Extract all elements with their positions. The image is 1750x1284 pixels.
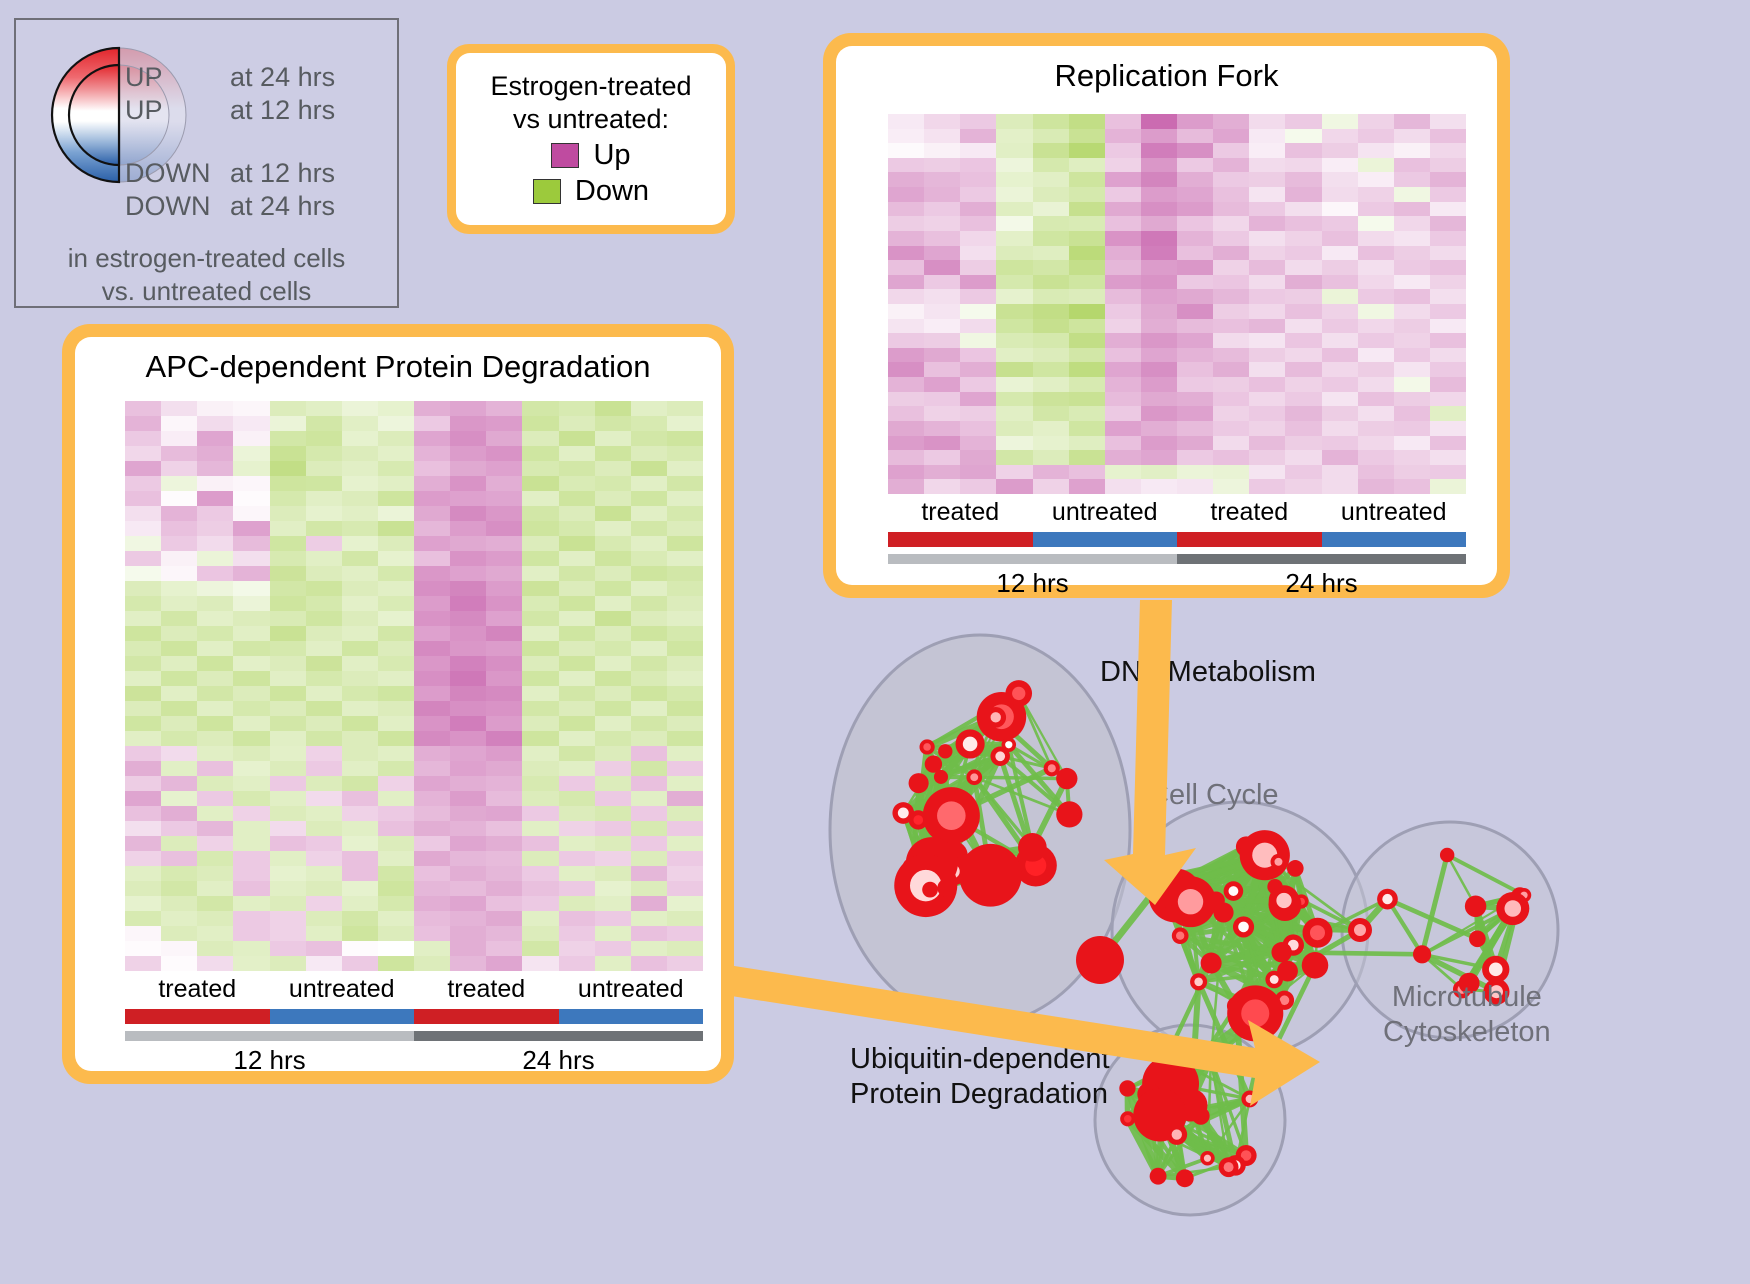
cluster-label-ubiquitin-degradation: Ubiquitin-dependent Protein Degradation [850,1042,1110,1112]
up-swatch-icon [551,143,579,168]
heatmap-cell [1358,289,1394,304]
heatmap-cell [414,956,450,971]
heatmap-cell [1249,202,1285,217]
heatmap-cell [1358,158,1394,173]
heatmap-cell [924,362,960,377]
heatmap-cell [1213,479,1249,494]
heatmap-cell [1069,333,1105,348]
heatmap-cell [1285,421,1321,436]
heatmap-cell [270,791,306,806]
heatmap-cell [342,881,378,896]
heatmap-cell [1322,114,1358,129]
heatmap-cell [1358,216,1394,231]
network-node [1271,854,1287,870]
heatmap-cell [233,791,269,806]
heatmap-cell [450,956,486,971]
heatmap-cell [1213,362,1249,377]
heatmap-cell [888,319,924,334]
heatmap-cell [197,866,233,881]
heatmap-cell [667,476,703,491]
heatmap-cell [1033,216,1069,231]
heatmap-cell [559,641,595,656]
heatmap-cell [125,551,161,566]
heatmap-cell [342,776,378,791]
heatmap-cell [486,506,522,521]
heatmap-cell [522,566,558,581]
heatmap-cell [631,806,667,821]
network-node [934,770,948,784]
heatmap-cell [996,187,1032,202]
heatmap-cell [631,746,667,761]
heatmap-cell [233,941,269,956]
heatmap-cell [631,431,667,446]
heatmap-cell [161,791,197,806]
heatmap-cell [559,941,595,956]
network-node [1200,1047,1222,1069]
heatmap-cell [270,611,306,626]
heatmap-cell [342,446,378,461]
heatmap-cell [233,611,269,626]
heatmap-cell [270,521,306,536]
heatmap-cell [522,461,558,476]
replication-fork-panel: Replication Fork treated untreated treat… [823,33,1510,598]
heatmap-cell [414,566,450,581]
heatmap-cell [1213,216,1249,231]
heatmap-cell [414,416,450,431]
heatmap-cell [1141,479,1177,494]
heatmap-cell [125,656,161,671]
heatmap-cell [125,836,161,851]
heatmap-cell [1249,348,1285,363]
heatmap-cell [667,686,703,701]
replication-fork-condition-bar [888,532,1466,547]
heatmap-cell [342,911,378,926]
heatmap-cell [1177,129,1213,144]
heatmap-cell [595,956,631,971]
heatmap-cell [378,896,414,911]
heatmap-cell [1141,377,1177,392]
heatmap-cell [522,911,558,926]
heatmap-cell [595,401,631,416]
heatmap-cell [1430,479,1466,494]
heatmap-cell [1105,202,1141,217]
heatmap-cell [1069,362,1105,377]
heatmap-cell [1322,333,1358,348]
heatmap-cell [1430,187,1466,202]
heatmap-cell [996,465,1032,480]
time-segment [125,1031,414,1041]
heatmap-cell [270,776,306,791]
heatmap-cell [1285,202,1321,217]
heatmap-cell [233,536,269,551]
heatmap-cell [631,716,667,731]
heatmap-cell [1141,406,1177,421]
heatmap-cell [1322,231,1358,246]
heatmap-cell [1249,143,1285,158]
heatmap-cell [414,581,450,596]
heatmap-cell [161,476,197,491]
network-node [1172,1054,1187,1069]
heatmap-cell [667,566,703,581]
heatmap-cell [342,836,378,851]
heatmap-cell [233,896,269,911]
heatmap-cell [1358,172,1394,187]
heatmap-cell [1141,172,1177,187]
caption-line-2: vs. untreated cells [16,275,397,308]
condition-segment [559,1009,704,1024]
heatmap-cell [161,821,197,836]
network-node [1201,953,1222,974]
heatmap-cell [1105,392,1141,407]
heatmap-cell [1213,202,1249,217]
heatmap-cell [414,866,450,881]
heatmap-cell [595,461,631,476]
estrogen-key-title-line1: Estrogen-treated [490,70,691,103]
heatmap-cell [1394,465,1430,480]
wheel-key-0: UP [125,62,163,93]
heatmap-cell [486,596,522,611]
heatmap-cell [888,406,924,421]
heatmap-cell [197,941,233,956]
heatmap-cell [197,761,233,776]
heatmap-cell [414,671,450,686]
heatmap-cell [1285,246,1321,261]
heatmap-cell [197,791,233,806]
heatmap-cell [1394,172,1430,187]
heatmap-cell [1213,289,1249,304]
heatmap-cell [1033,479,1069,494]
network-node [922,882,938,898]
heatmap-cell [924,348,960,363]
heatmap-cell [197,536,233,551]
heatmap-cell [161,491,197,506]
heatmap-cell [306,521,342,536]
heatmap-cell [233,461,269,476]
heatmap-cell [1213,158,1249,173]
heatmap-cell [1358,129,1394,144]
heatmap-cell [1358,143,1394,158]
heatmap-cell [450,476,486,491]
heatmap-cell [450,716,486,731]
heatmap-cell [161,431,197,446]
heatmap-cell [378,806,414,821]
heatmap-cell [1394,158,1430,173]
heatmap-cell [1141,319,1177,334]
replication-fork-heatmap [888,114,1466,494]
heatmap-cell [233,551,269,566]
heatmap-cell [996,319,1032,334]
heatmap-cell [414,626,450,641]
heatmap-cell [378,671,414,686]
heatmap-cell [1033,246,1069,261]
heatmap-cell [161,656,197,671]
heatmap-cell [924,319,960,334]
heatmap-cell [125,881,161,896]
heatmap-cell [197,566,233,581]
heatmap-cell [595,941,631,956]
heatmap-cell [924,304,960,319]
heatmap-cell [1105,450,1141,465]
heatmap-cell [1322,172,1358,187]
heatmap-cell [342,746,378,761]
heatmap-cell [996,304,1032,319]
heatmap-cell [1105,172,1141,187]
apc-degradation-time-bar [125,1031,703,1041]
heatmap-cell [306,491,342,506]
heatmap-cell [270,566,306,581]
time-segment [888,554,1177,564]
heatmap-cell [1249,158,1285,173]
wheel-time-3: at 24 hrs [230,191,335,222]
cond-label-2: treated [1177,498,1322,527]
heatmap-cell [667,656,703,671]
heatmap-cell [1069,465,1105,480]
heatmap-cell [924,216,960,231]
heatmap-cell [1322,406,1358,421]
heatmap-cell [197,581,233,596]
heatmap-cell [1141,450,1177,465]
heatmap-cell [1322,450,1358,465]
heatmap-cell [631,761,667,776]
heatmap-cell [270,536,306,551]
heatmap-cell [960,362,996,377]
heatmap-cell [1394,333,1430,348]
heatmap-cell [1033,289,1069,304]
heatmap-cell [1105,289,1141,304]
heatmap-cell [1177,172,1213,187]
heatmap-cell [306,431,342,446]
heatmap-cell [450,431,486,446]
heatmap-cell [270,431,306,446]
heatmap-cell [559,686,595,701]
color-wheel-legend: UP at 24 hrs UP at 12 hrs DOWN at 12 hrs… [14,18,399,308]
heatmap-cell [197,521,233,536]
heatmap-cell [667,671,703,686]
heatmap-cell [342,941,378,956]
heatmap-cell [1177,246,1213,261]
heatmap-cell [1322,392,1358,407]
heatmap-cell [197,806,233,821]
heatmap-cell [342,506,378,521]
heatmap-cell [1213,246,1249,261]
heatmap-cell [1213,129,1249,144]
cluster-label-microtubule-cytoskeleton: Microtubule Cytoskeleton [1383,980,1551,1050]
heatmap-cell [1213,275,1249,290]
network-node [1496,892,1529,925]
heatmap-cell [631,701,667,716]
heatmap-cell [270,911,306,926]
heatmap-cell [1033,450,1069,465]
heatmap-cell [1249,187,1285,202]
heatmap-cell [667,401,703,416]
heatmap-cell [522,926,558,941]
heatmap-cell [414,551,450,566]
heatmap-cell [486,941,522,956]
heatmap-cell [197,776,233,791]
heatmap-cell [161,881,197,896]
heatmap-cell [1249,406,1285,421]
heatmap-cell [1213,333,1249,348]
heatmap-cell [414,716,450,731]
heatmap-cell [667,596,703,611]
heatmap-cell [486,746,522,761]
heatmap-cell [378,701,414,716]
heatmap-cell [414,401,450,416]
heatmap-cell [1105,304,1141,319]
heatmap-cell [667,731,703,746]
heatmap-cell [924,450,960,465]
heatmap-cell [559,611,595,626]
heatmap-cell [1394,143,1430,158]
network-edge [974,777,1067,778]
heatmap-cell [631,941,667,956]
heatmap-cell [888,158,924,173]
heatmap-cell [1358,304,1394,319]
heatmap-cell [924,129,960,144]
heatmap-cell [559,461,595,476]
heatmap-cell [1033,129,1069,144]
heatmap-cell [1430,129,1466,144]
heatmap-cell [924,392,960,407]
heatmap-cell [1394,406,1430,421]
heatmap-cell [270,596,306,611]
heatmap-cell [378,911,414,926]
heatmap-cell [667,821,703,836]
heatmap-cell [486,866,522,881]
heatmap-cell [888,304,924,319]
heatmap-cell [1394,114,1430,129]
heatmap-cell [378,746,414,761]
heatmap-cell [342,596,378,611]
heatmap-cell [1105,362,1141,377]
heatmap-cell [1141,202,1177,217]
heatmap-cell [450,926,486,941]
heatmap-cell [1141,289,1177,304]
heatmap-cell [1033,319,1069,334]
network-node [892,802,914,824]
heatmap-cell [1141,304,1177,319]
heatmap-cell [342,686,378,701]
heatmap-cell [1394,289,1430,304]
heatmap-cell [631,896,667,911]
heatmap-cell [1322,246,1358,261]
heatmap-cell [1069,319,1105,334]
heatmap-cell [559,431,595,446]
heatmap-cell [414,836,450,851]
heatmap-cell [233,416,269,431]
heatmap-cell [631,566,667,581]
heatmap-cell [270,821,306,836]
network-node [1233,916,1254,937]
heatmap-cell [306,686,342,701]
heatmap-cell [342,791,378,806]
heatmap-cell [378,941,414,956]
heatmap-cell [1069,377,1105,392]
heatmap-cell [342,641,378,656]
heatmap-cell [1105,348,1141,363]
heatmap-cell [888,129,924,144]
heatmap-cell [486,656,522,671]
heatmap-cell [378,836,414,851]
heatmap-cell [559,926,595,941]
heatmap-cell [888,202,924,217]
heatmap-cell [306,956,342,971]
heatmap-cell [1322,362,1358,377]
heatmap-cell [631,626,667,641]
heatmap-cell [378,491,414,506]
heatmap-cell [486,521,522,536]
heatmap-cell [342,461,378,476]
heatmap-cell [1249,421,1285,436]
heatmap-cell [233,686,269,701]
heatmap-cell [414,536,450,551]
heatmap-cell [924,202,960,217]
heatmap-cell [1394,421,1430,436]
heatmap-cell [1177,304,1213,319]
heatmap-cell [1394,436,1430,451]
heatmap-cell [924,260,960,275]
heatmap-cell [306,656,342,671]
heatmap-cell [1285,129,1321,144]
heatmap-cell [450,596,486,611]
heatmap-cell [450,491,486,506]
heatmap-cell [197,731,233,746]
heatmap-cell [1105,333,1141,348]
heatmap-cell [595,506,631,521]
heatmap-cell [414,431,450,446]
network-node [1271,942,1291,962]
heatmap-cell [960,348,996,363]
heatmap-cell [1141,333,1177,348]
heatmap-cell [161,521,197,536]
heatmap-cell [888,436,924,451]
heatmap-cell [595,866,631,881]
heatmap-cell [378,611,414,626]
heatmap-cell [342,656,378,671]
heatmap-cell [1033,143,1069,158]
heatmap-cell [1358,450,1394,465]
heatmap-cell [233,656,269,671]
network-node [1176,1169,1194,1187]
heatmap-cell [1322,275,1358,290]
heatmap-cell [1430,421,1466,436]
heatmap-cell [667,521,703,536]
heatmap-cell [1358,421,1394,436]
network-node [1056,768,1077,789]
heatmap-cell [924,246,960,261]
network-node [1018,833,1047,862]
heatmap-cell [270,446,306,461]
heatmap-cell [1394,362,1430,377]
condition-segment [1033,532,1178,547]
heatmap-cell [450,611,486,626]
heatmap-cell [450,836,486,851]
heatmap-cell [1249,362,1285,377]
heatmap-cell [960,289,996,304]
heatmap-cell [486,611,522,626]
heatmap-cell [233,746,269,761]
heatmap-cell [1249,304,1285,319]
heatmap-cell [1105,406,1141,421]
heatmap-cell [595,626,631,641]
heatmap-cell [559,521,595,536]
heatmap-cell [924,333,960,348]
heatmap-cell [960,436,996,451]
heatmap-cell [450,401,486,416]
heatmap-cell [1069,289,1105,304]
heatmap-cell [631,581,667,596]
heatmap-cell [125,866,161,881]
